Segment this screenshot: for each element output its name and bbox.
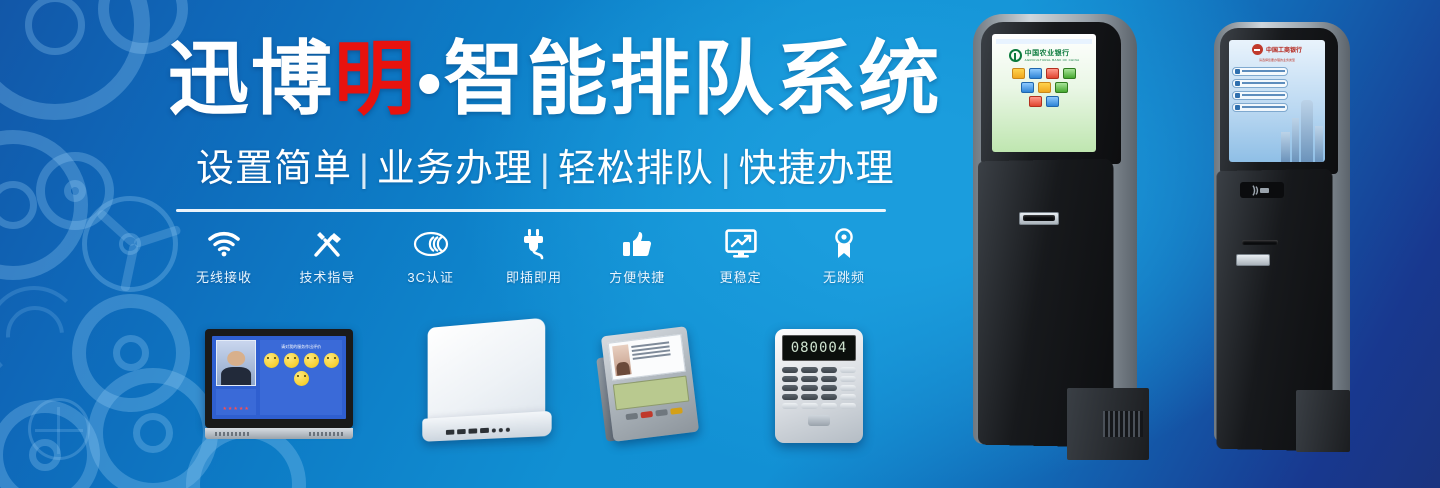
keypad-key[interactable] bbox=[821, 403, 837, 409]
menu-item-other[interactable] bbox=[1232, 103, 1288, 112]
staff-info-panel: ★★★★★ bbox=[216, 389, 256, 415]
feature-label: 3C认证 bbox=[383, 267, 479, 286]
ticket-dispenser-slot bbox=[1242, 240, 1278, 245]
keypad-key[interactable] bbox=[782, 403, 798, 409]
keypad-key[interactable] bbox=[840, 394, 856, 400]
menu-label-bar bbox=[1242, 106, 1285, 108]
bank-name: 中国农业银行 bbox=[1025, 48, 1080, 58]
monitor-bezel: ★★★★★ 请对我的服务作出评价 bbox=[205, 329, 353, 428]
keypad-key[interactable] bbox=[801, 385, 817, 391]
rating-question: 请对我的服务作出评价 bbox=[281, 344, 321, 350]
rating-stars: ★★★★★ bbox=[222, 406, 249, 412]
product-showcase: ★★★★★ 请对我的服务作出评价 bbox=[0, 315, 900, 465]
keypad-key[interactable] bbox=[821, 367, 837, 373]
title-accent-char: 明 bbox=[334, 35, 417, 125]
router-port bbox=[480, 428, 489, 433]
subtitle-separator: | bbox=[533, 148, 558, 190]
router-indicator bbox=[499, 428, 503, 432]
monitor-chart-icon bbox=[693, 226, 789, 262]
service-tile[interactable] bbox=[1055, 82, 1068, 93]
monitor-staff-panel: ★★★★★ bbox=[216, 340, 256, 415]
nfc-card-reader[interactable] bbox=[1240, 182, 1284, 198]
feature-item-stable: 更稳定 bbox=[693, 226, 789, 286]
service-tile[interactable] bbox=[1029, 68, 1042, 79]
service-tile[interactable] bbox=[1021, 82, 1034, 93]
keypad-confirm-button[interactable] bbox=[808, 415, 830, 426]
keypad-key[interactable] bbox=[840, 376, 856, 382]
thumbs-up-icon bbox=[589, 226, 685, 262]
kiosk-base-box bbox=[1296, 390, 1350, 452]
screen-topbar bbox=[996, 39, 1092, 44]
menu-icon bbox=[1235, 69, 1240, 74]
kiosk-screen-content[interactable]: 中国农业银行 AGRICULTURAL BANK OF CHINA bbox=[992, 34, 1096, 152]
title-separator-dot: • bbox=[417, 44, 444, 122]
service-tile[interactable] bbox=[1046, 68, 1059, 79]
keypad-key[interactable] bbox=[782, 385, 798, 391]
staff-photo bbox=[216, 340, 256, 386]
service-menu[interactable] bbox=[1232, 67, 1288, 112]
bank-name-english: AGRICULTURAL BANK OF CHINA bbox=[1025, 58, 1080, 62]
evaluator-id-card bbox=[608, 334, 686, 381]
bank-branding: 中国工商银行 bbox=[1232, 44, 1322, 55]
feature-list: 无线接收 技术指导 bbox=[176, 226, 892, 288]
subtitle-separator: | bbox=[352, 148, 377, 190]
feature-label: 无线接收 bbox=[176, 267, 272, 286]
keypad-key[interactable] bbox=[801, 376, 817, 382]
keypad-key[interactable] bbox=[840, 403, 856, 409]
wifi-icon bbox=[176, 226, 272, 262]
router-port bbox=[446, 430, 454, 435]
monitor-screen: ★★★★★ 请对我的服务作出评价 bbox=[212, 336, 346, 419]
keypad-key[interactable] bbox=[782, 376, 798, 382]
subtitle-separator: | bbox=[714, 148, 739, 190]
router-body bbox=[428, 318, 546, 422]
title-part-1: 迅博 bbox=[168, 35, 334, 125]
keypad-key[interactable] bbox=[801, 394, 817, 400]
keypad-body: 080004 bbox=[775, 329, 863, 443]
tile-row bbox=[1012, 68, 1076, 79]
keypad-button-grid[interactable] bbox=[782, 367, 856, 409]
tile-row bbox=[1021, 82, 1068, 93]
rating-face-group bbox=[260, 353, 342, 386]
subtitle: 设置简单|业务办理|轻松排队|快捷办理 bbox=[196, 147, 896, 193]
service-tile[interactable] bbox=[1038, 82, 1051, 93]
building bbox=[1281, 132, 1290, 162]
building-illustration bbox=[1281, 100, 1323, 162]
ticket-dispenser-slot bbox=[1023, 215, 1055, 221]
building bbox=[1301, 100, 1313, 162]
subtitle-item-1: 设置简单 bbox=[196, 148, 352, 190]
feature-item-plug-and-play: 即插即用 bbox=[486, 226, 582, 286]
feature-label: 即插即用 bbox=[486, 267, 582, 286]
feature-item-convenient: 方便快捷 bbox=[589, 226, 685, 286]
keypad-key[interactable] bbox=[840, 385, 856, 391]
rating-face bbox=[284, 353, 299, 368]
bank-logo-icon bbox=[1009, 49, 1022, 62]
evaluator-key[interactable] bbox=[655, 409, 668, 416]
product-caller-keypad: 080004 bbox=[775, 329, 863, 443]
menu-icon bbox=[1235, 105, 1240, 110]
product-evaluation-monitor: ★★★★★ 请对我的服务作出评价 bbox=[205, 329, 353, 447]
keypad-key[interactable] bbox=[782, 394, 798, 400]
subtitle-item-4: 快捷办理 bbox=[739, 148, 895, 190]
rating-face bbox=[294, 371, 309, 386]
feature-label: 无跳频 bbox=[796, 267, 892, 286]
product-wireless-host bbox=[418, 323, 550, 443]
queue-kiosk-right: 中国工商银行 请选择您要办理的业务类型 bbox=[1200, 22, 1370, 474]
service-tile-grid[interactable] bbox=[996, 68, 1092, 107]
queue-kiosk-left: 中国农业银行 AGRICULTURAL BANK OF CHINA bbox=[955, 14, 1155, 476]
evaluator-key-yellow[interactable] bbox=[670, 407, 683, 414]
menu-icon bbox=[1235, 81, 1240, 86]
feature-item-tech-support: 技术指导 bbox=[279, 226, 375, 286]
menu-label-bar bbox=[1242, 70, 1285, 72]
service-tile[interactable] bbox=[1029, 96, 1042, 107]
brand-plate bbox=[1236, 254, 1270, 266]
screen-instruction: 请选择您要办理的业务类型 bbox=[1232, 58, 1322, 63]
stand-vent bbox=[309, 432, 343, 436]
bank-name: 中国工商银行 bbox=[1266, 45, 1302, 54]
service-tile[interactable] bbox=[1046, 96, 1059, 107]
keypad-key[interactable] bbox=[821, 385, 837, 391]
ribbon-award-icon bbox=[796, 226, 892, 262]
id-card-text-lines bbox=[631, 338, 681, 374]
evaluator-key[interactable] bbox=[625, 413, 638, 420]
keypad-key[interactable] bbox=[782, 367, 798, 373]
router-port-row bbox=[446, 427, 510, 435]
rating-face bbox=[264, 353, 279, 368]
keypad-key[interactable] bbox=[801, 403, 817, 409]
horizontal-divider bbox=[176, 209, 886, 212]
keypad-key[interactable] bbox=[801, 367, 817, 373]
contactless-icon bbox=[1251, 185, 1273, 196]
monitor-rating-panel: 请对我的服务作出评价 bbox=[260, 340, 342, 415]
keypad-key[interactable] bbox=[821, 394, 837, 400]
plug-icon bbox=[486, 226, 582, 262]
subtitle-item-2: 业务办理 bbox=[377, 148, 533, 190]
kiosk-screen-content[interactable]: 中国工商银行 请选择您要办理的业务类型 bbox=[1229, 40, 1325, 162]
bank-logo-icon bbox=[1252, 44, 1263, 55]
tile-row bbox=[1029, 96, 1059, 107]
kiosk-base-box bbox=[1067, 388, 1149, 460]
monitor-stand bbox=[205, 428, 353, 439]
rating-face bbox=[324, 353, 339, 368]
id-card-photo bbox=[612, 344, 632, 376]
title-part-2: 智能排队系统 bbox=[444, 35, 942, 125]
feature-label: 更稳定 bbox=[693, 267, 789, 286]
base-vent-grille bbox=[1103, 411, 1143, 437]
menu-item-vip[interactable] bbox=[1232, 91, 1288, 100]
evaluator-body bbox=[601, 326, 699, 442]
feature-label: 技术指导 bbox=[279, 267, 375, 286]
bank-branding: 中国农业银行 AGRICULTURAL BANK OF CHINA bbox=[1009, 48, 1080, 62]
keypad-display-value: 080004 bbox=[791, 340, 848, 356]
menu-label-bar bbox=[1242, 94, 1285, 96]
3c-badge-icon bbox=[383, 226, 479, 262]
evaluator-key-red[interactable] bbox=[640, 411, 653, 418]
menu-item-corporate[interactable] bbox=[1232, 79, 1288, 88]
feature-label: 方便快捷 bbox=[589, 267, 685, 286]
menu-label-bar bbox=[1242, 82, 1285, 84]
feature-item-no-frequency-hop: 无跳频 bbox=[796, 226, 892, 286]
building bbox=[1315, 126, 1323, 162]
menu-icon bbox=[1235, 93, 1240, 98]
keypad-key[interactable] bbox=[821, 376, 837, 382]
feature-item-3c-cert: 3C认证 bbox=[383, 226, 479, 286]
building bbox=[1292, 118, 1299, 162]
promo-banner: 迅博明•智能排队系统 设置简单|业务办理|轻松排队|快捷办理 无线接收 bbox=[0, 0, 1440, 488]
feature-item-wireless: 无线接收 bbox=[176, 226, 272, 286]
router-indicator bbox=[492, 428, 496, 432]
product-desktop-evaluator bbox=[595, 325, 701, 440]
keypad-key[interactable] bbox=[840, 367, 856, 373]
kiosk-screen: 中国工商银行 请选择您要办理的业务类型 bbox=[1229, 40, 1325, 162]
service-tile[interactable] bbox=[1012, 68, 1025, 79]
router-power-jack bbox=[506, 428, 510, 432]
router-port bbox=[469, 428, 478, 433]
tools-icon bbox=[279, 226, 375, 262]
router-port bbox=[457, 429, 466, 434]
subtitle-item-3: 轻松排队 bbox=[558, 148, 714, 190]
keypad-display: 080004 bbox=[782, 335, 856, 361]
rating-face bbox=[304, 353, 319, 368]
kiosk-screen: 中国农业银行 AGRICULTURAL BANK OF CHINA bbox=[992, 34, 1096, 152]
evaluator-lcd bbox=[613, 376, 690, 411]
page-title: 迅博明•智能排队系统 bbox=[168, 38, 908, 123]
service-tile[interactable] bbox=[1063, 68, 1076, 79]
stand-vent bbox=[215, 432, 249, 436]
menu-item-personal[interactable] bbox=[1232, 67, 1288, 76]
